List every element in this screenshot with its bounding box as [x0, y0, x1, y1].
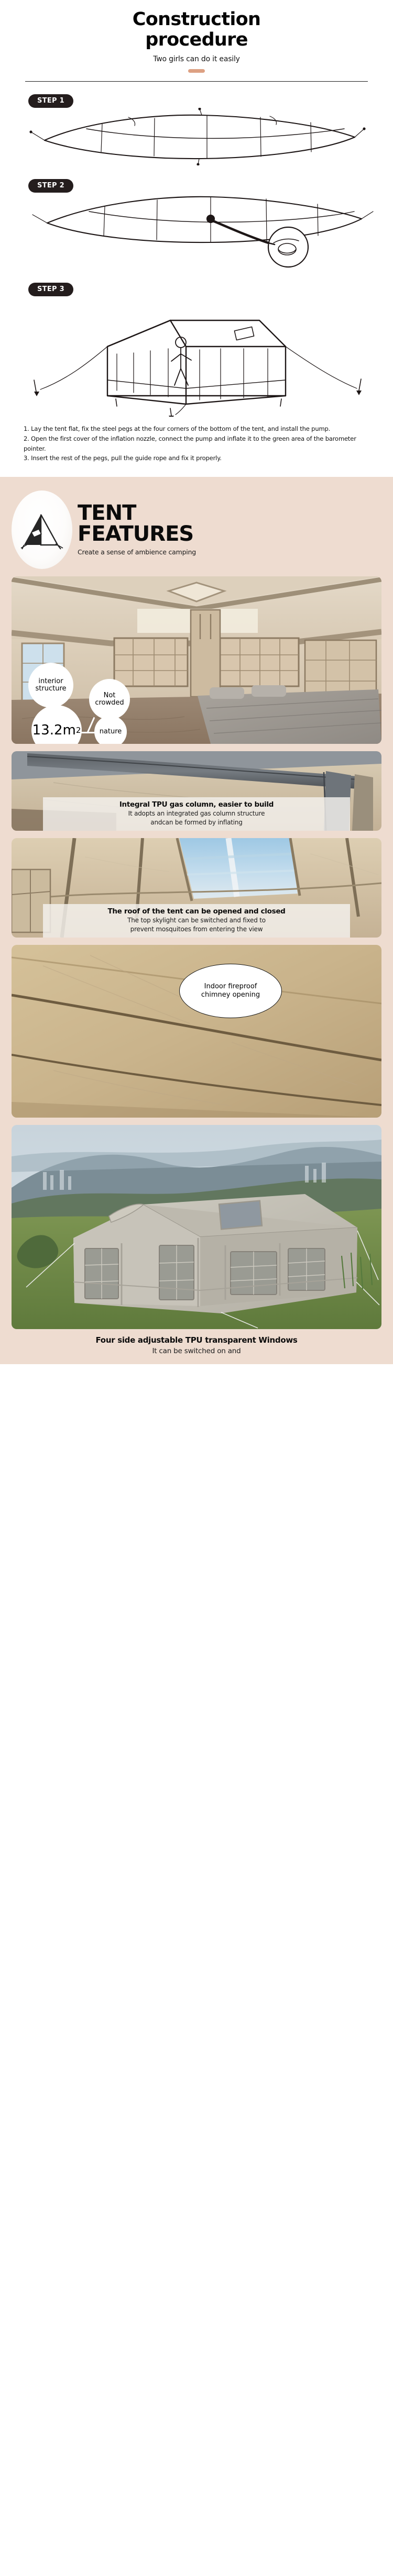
- tent-icon: [18, 507, 66, 552]
- chimney-photo-card: Indoor fireproof chimney opening: [12, 945, 381, 1118]
- roof-caption-title: The roof of the tent can be opened and c…: [51, 907, 342, 916]
- step-3-badge: STEP 3: [28, 283, 73, 296]
- callout-chimney-bubble: Indoor fireproof chimney opening: [179, 964, 282, 1018]
- step-1-block: STEP 1: [0, 94, 393, 165]
- features-title-line1: TENT: [78, 503, 386, 524]
- product-detail-page: Construction procedure Two girls can do …: [0, 0, 393, 1364]
- step-1-badge: STEP 1: [28, 94, 73, 108]
- callout-nature: nature: [94, 716, 127, 744]
- features-header: TENT FEATURES Create a sense of ambience…: [0, 490, 393, 569]
- gas-column-caption-line1: It adopts an integrated gas column struc…: [51, 809, 342, 818]
- exterior-photo: [12, 1125, 381, 1329]
- exterior-photo-card: [12, 1125, 381, 1329]
- accent-dash: [188, 69, 205, 73]
- gas-column-caption-title: Integral TPU gas column, easier to build: [51, 800, 342, 809]
- step-2-block: STEP 2: [0, 179, 393, 271]
- step-2-illustration: [16, 193, 377, 271]
- instruction-item-1: 1. Lay the tent flat, fix the steel pegs…: [24, 424, 369, 434]
- features-titles: TENT FEATURES Create a sense of ambience…: [75, 503, 386, 556]
- instruction-item-3: 3. Insert the rest of the pegs, pull the…: [24, 453, 369, 463]
- gas-column-caption-line2: andcan be formed by inflating: [51, 818, 342, 827]
- step-3-illustration: [13, 296, 380, 417]
- divider: [25, 81, 368, 82]
- callout-chimney-line2: chimney opening: [201, 991, 260, 999]
- instruction-list: 1. Lay the tent flat, fix the steel pegs…: [0, 417, 393, 477]
- windows-caption-body: It can be switched on and: [10, 1346, 383, 1356]
- gas-column-caption: Integral TPU gas column, easier to build…: [43, 797, 350, 831]
- windows-caption-title: Four side adjustable TPU transparent Win…: [10, 1335, 383, 1345]
- step-1-illustration: [24, 108, 369, 165]
- roof-skylight-photo-card: The roof of the tent can be opened and c…: [12, 838, 381, 938]
- step-2-badge: STEP 2: [28, 179, 73, 193]
- instruction-item-2: 2. Open the first cover of the inflation…: [24, 434, 369, 453]
- callout-interior-structure: interior structure: [28, 663, 73, 708]
- tent-logo-oval: [12, 490, 72, 569]
- windows-caption: Four side adjustable TPU transparent Win…: [0, 1329, 393, 1364]
- callout-not-crowded-label: Not crowded: [89, 692, 130, 707]
- callout-nature-label: nature: [100, 728, 122, 735]
- callout-area-unit: 2: [76, 726, 81, 735]
- tent-features-section: TENT FEATURES Create a sense of ambience…: [0, 477, 393, 1364]
- roof-caption: The roof of the tent can be opened and c…: [43, 904, 350, 938]
- roof-caption-line1: The top skylight can be switched and fix…: [51, 916, 342, 924]
- interior-photo-card: interior structure Not crowded 13.2m2 na…: [12, 576, 381, 744]
- page-title-line2: procedure: [31, 30, 362, 50]
- page-subtitle: Two girls can do it easily: [0, 55, 393, 63]
- features-subtitle: Create a sense of ambience camping: [78, 548, 386, 556]
- callout-area-value: 13.2m: [32, 723, 76, 738]
- features-title-line2: FEATURES: [78, 524, 386, 545]
- callout-interior-structure-label: interior structure: [28, 678, 73, 693]
- roof-caption-line2: prevent mosquitoes from entering the vie…: [51, 925, 342, 933]
- callout-chimney-line1: Indoor fireproof: [201, 983, 260, 991]
- construction-procedure-section: Construction procedure Two girls can do …: [0, 0, 393, 477]
- page-title: Construction procedure: [0, 9, 393, 50]
- gas-column-photo-card: Integral TPU gas column, easier to build…: [12, 751, 381, 831]
- callout-not-crowded: Not crowded: [89, 679, 130, 720]
- step-3-block: STEP 3: [0, 283, 393, 417]
- page-title-line1: Construction: [31, 9, 362, 30]
